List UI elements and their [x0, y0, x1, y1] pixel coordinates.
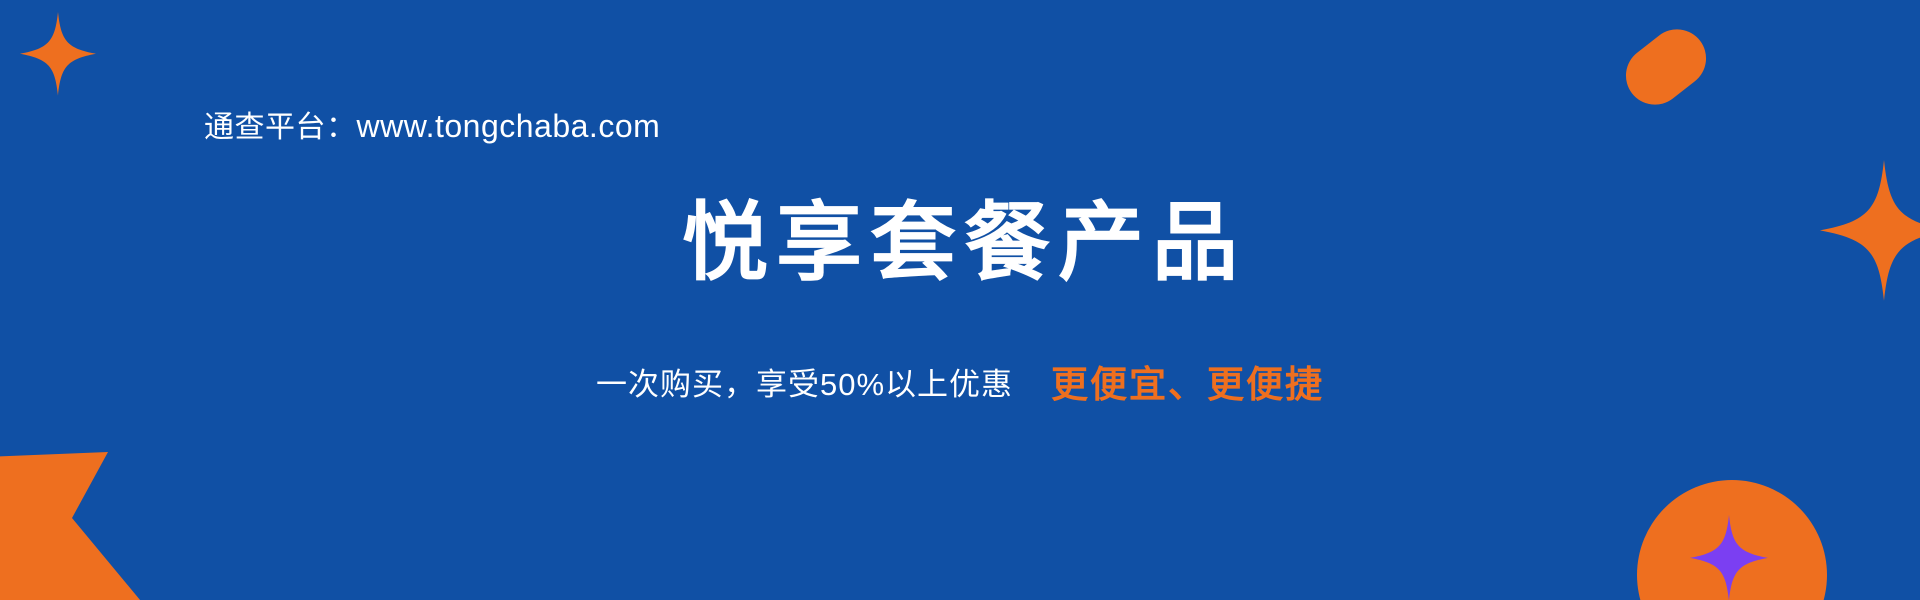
subline-plain-text: 一次购买，享受50%以上优惠: [596, 367, 1013, 402]
subline-accent-text: 更便宜、更便捷: [1051, 364, 1324, 405]
subline: 一次购买，享受50%以上优惠更便宜、更便捷: [0, 366, 1920, 403]
promo-banner: 通查平台：www.tongchaba.com 悦享套餐产品 一次购买，享受50%…: [0, 0, 1920, 600]
platform-url[interactable]: www.tongchaba.com: [357, 108, 661, 144]
page-title: 悦享套餐产品: [0, 198, 1920, 288]
banner-content: 通查平台：www.tongchaba.com 悦享套餐产品 一次购买，享受50%…: [0, 0, 1920, 600]
platform-label: 通查平台：: [204, 111, 357, 144]
platform-line: 通查平台：www.tongchaba.com: [204, 110, 660, 143]
